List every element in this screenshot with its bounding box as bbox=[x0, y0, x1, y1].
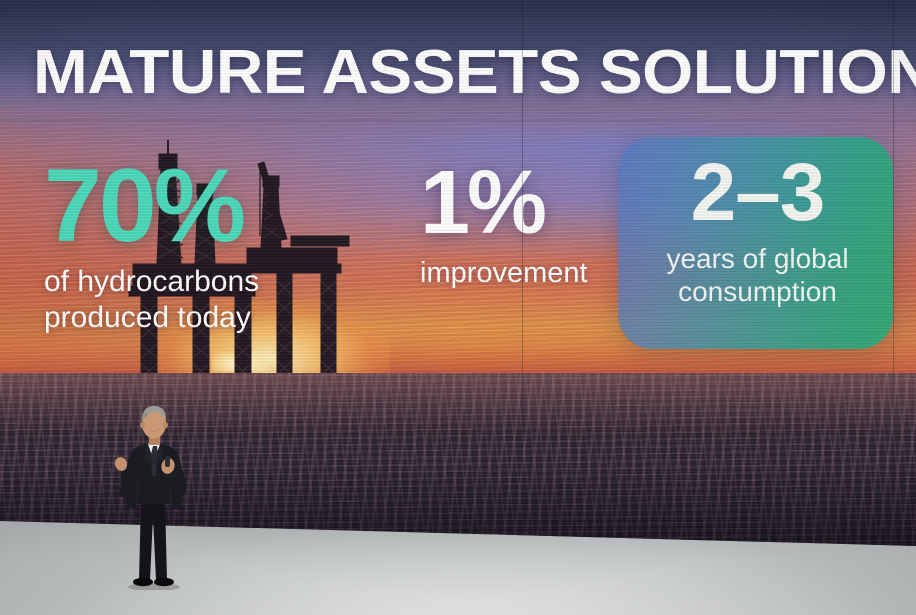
stat-value-1: 1% bbox=[420, 158, 620, 248]
stat-block-consumption: 2–3 years of global consumption bbox=[640, 152, 875, 308]
slide-headline: MATURE ASSETS SOLUTIONS bbox=[33, 42, 916, 104]
stat-label-hydrocarbons: of hydrocarbons produced today bbox=[44, 264, 344, 336]
stat-label-line1: of hydrocarbons bbox=[44, 264, 344, 300]
stat-label-improvement: improvement bbox=[420, 256, 620, 290]
led-panel-seam bbox=[893, 0, 894, 553]
stat-value-2-3: 2–3 bbox=[640, 152, 875, 234]
presentation-stage-photo: MATURE ASSETS SOLUTIONS 70% of hydrocarb… bbox=[0, 0, 916, 615]
stat-block-improvement: 1% improvement bbox=[420, 158, 620, 290]
stat-label-line1: improvement bbox=[420, 256, 620, 290]
stat-label-line2: consumption bbox=[640, 275, 875, 308]
stat-block-hydrocarbons: 70% of hydrocarbons produced today bbox=[44, 154, 344, 336]
led-panel-seam-horizontal bbox=[0, 120, 916, 121]
presenter-figure bbox=[108, 404, 200, 590]
stat-label-consumption: years of global consumption bbox=[640, 242, 875, 308]
stat-value-70: 70% bbox=[44, 154, 344, 258]
stat-label-line2: produced today bbox=[44, 300, 344, 336]
led-panel-seam bbox=[522, 0, 523, 553]
stat-label-line1: years of global bbox=[640, 242, 875, 275]
